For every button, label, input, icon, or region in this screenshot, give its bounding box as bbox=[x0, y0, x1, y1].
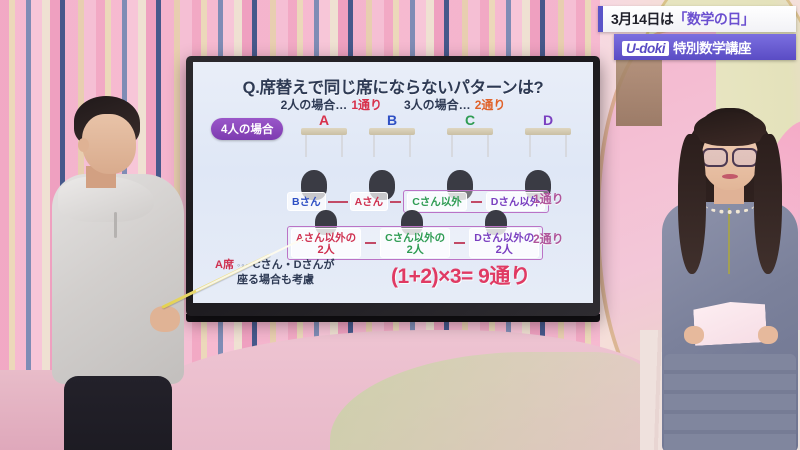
row1-group-box: Cさん以外Dさん以外 bbox=[403, 190, 549, 213]
broadcast-banner: 3月14日は「数学の日」 U-doki特別数学講座 bbox=[598, 6, 796, 60]
row2-group-d-bottom: 2人 bbox=[474, 245, 534, 256]
studio-broadcast-screenshot: Q.席替えで同じ席にならないパターンは? 2人の場合… 1通り 3人の場合… 2… bbox=[0, 0, 800, 450]
row2-count: 2通り bbox=[533, 230, 564, 247]
row1-name-a: Aさん bbox=[350, 192, 389, 211]
female-presenter-hand-right bbox=[758, 326, 778, 344]
row2-group-a-top: Aさん以外の bbox=[296, 232, 356, 244]
male-presenter-face bbox=[82, 114, 136, 174]
presentation-monitor: Q.席替えで同じ席にならないパターンは? 2人の場合… 1通り 3人の場合… 2… bbox=[186, 56, 600, 316]
female-presenter-skirt bbox=[664, 354, 796, 450]
female-presenter-hand-left bbox=[684, 326, 704, 344]
note-line2: 座る場合も考慮 bbox=[215, 273, 335, 288]
desk-b-legs bbox=[369, 135, 415, 157]
row1-count: 1通り bbox=[533, 190, 564, 207]
female-presenter bbox=[662, 104, 798, 450]
desk-c-letter: C bbox=[439, 114, 501, 127]
pattern-row-2: Aさん以外の 2人 Cさん以外の 2人 Dさん以外の 2人 bbox=[287, 226, 543, 260]
backdrop-brown-panel bbox=[616, 56, 662, 126]
desk-b: B bbox=[361, 114, 423, 157]
female-presenter-dress-placket bbox=[728, 208, 730, 274]
result-equation: (1+2)×3= 9通り bbox=[391, 260, 530, 290]
row2-group-c-bottom: 2人 bbox=[385, 245, 445, 256]
banner-line-2: U-doki特別数学講座 bbox=[614, 34, 796, 60]
monitor-screen: Q.席替えで同じ席にならないパターンは? 2人の場合… 1通り 3人の場合… 2… bbox=[193, 62, 593, 303]
subcase-two-people: 2人の場合… 1通り bbox=[281, 96, 382, 113]
desk-d: D bbox=[517, 114, 579, 157]
banner-program-name: U-doki bbox=[622, 41, 669, 56]
row2-group-a: Aさん以外の 2人 bbox=[291, 228, 361, 258]
desk-a-letter: A bbox=[293, 114, 355, 127]
row2-group-c: Cさん以外の 2人 bbox=[380, 228, 450, 258]
male-presenter-hand bbox=[150, 306, 180, 332]
desk-d-legs bbox=[525, 135, 571, 157]
desk-b-letter: B bbox=[361, 114, 423, 127]
male-presenter bbox=[52, 96, 192, 450]
glasses-icon bbox=[702, 148, 758, 164]
subcase-three-people: 3人の場合… 2通り bbox=[404, 96, 505, 113]
desk-row: A B C D bbox=[293, 114, 593, 172]
slide-question-title: Q.席替えで同じ席にならないパターンは? bbox=[193, 74, 593, 98]
row1-connector-1 bbox=[328, 201, 348, 203]
note-names: Cさん・Dさんが bbox=[253, 259, 335, 271]
row2-group-c-top: Cさん以外の bbox=[385, 232, 445, 244]
subcase-two-label: 2人の場合… bbox=[281, 96, 348, 113]
desk-c-legs bbox=[447, 135, 493, 157]
row2-group-d-top: Dさん以外の bbox=[474, 232, 534, 244]
female-presenter-hair-right bbox=[754, 134, 782, 274]
row2-group-a-bottom: 2人 bbox=[296, 245, 356, 256]
female-presenter-hair-left bbox=[678, 134, 706, 274]
desk-c-surface bbox=[447, 128, 493, 135]
desk-a-legs bbox=[301, 135, 347, 157]
row2-group-d: Dさん以外の 2人 bbox=[469, 228, 539, 258]
desk-d-letter: D bbox=[517, 114, 579, 127]
banner-segment-title: 特別数学講座 bbox=[673, 41, 751, 56]
desk-d-surface bbox=[525, 128, 571, 135]
row1-connector-2 bbox=[390, 201, 401, 203]
row2-group-box: Aさん以外の 2人 Cさん以外の 2人 Dさん以外の 2人 bbox=[287, 226, 543, 260]
row1-name-b: Bさん bbox=[287, 192, 326, 211]
subcase-three-value: 2通り bbox=[475, 96, 506, 113]
math-lesson-slide: Q.席替えで同じ席にならないパターンは? 2人の場合… 1通り 3人の場合… 2… bbox=[193, 62, 593, 303]
female-presenter-bangs bbox=[694, 112, 766, 146]
male-presenter-ear bbox=[78, 138, 89, 152]
female-presenter-necklace bbox=[706, 198, 754, 214]
row2-connector-2 bbox=[454, 242, 465, 244]
male-presenter-hood-string bbox=[114, 212, 117, 238]
desk-b-surface bbox=[369, 128, 415, 135]
desk-a-surface bbox=[301, 128, 347, 135]
banner-date-prefix: 3月14日は bbox=[611, 11, 673, 27]
male-presenter-pants bbox=[64, 376, 172, 450]
row1-group-connector bbox=[471, 201, 482, 203]
desk-c: C bbox=[439, 114, 501, 157]
note-seat-a: A席 bbox=[215, 259, 234, 271]
row1-group-c: Cさん以外 bbox=[407, 192, 467, 211]
case-badge-four-people: 4人の場合 bbox=[211, 118, 283, 140]
subcase-two-value: 1通り bbox=[351, 96, 382, 113]
desk-a: A bbox=[293, 114, 355, 157]
banner-line-1: 3月14日は「数学の日」 bbox=[598, 6, 796, 32]
row2-connector-1 bbox=[365, 242, 376, 244]
subcase-three-label: 3人の場合… bbox=[404, 96, 471, 113]
slide-subcases: 2人の場合… 1通り 3人の場合… 2通り bbox=[193, 96, 593, 113]
female-presenter-lips bbox=[722, 174, 738, 179]
banner-date-highlight: 「数学の日」 bbox=[673, 11, 754, 27]
